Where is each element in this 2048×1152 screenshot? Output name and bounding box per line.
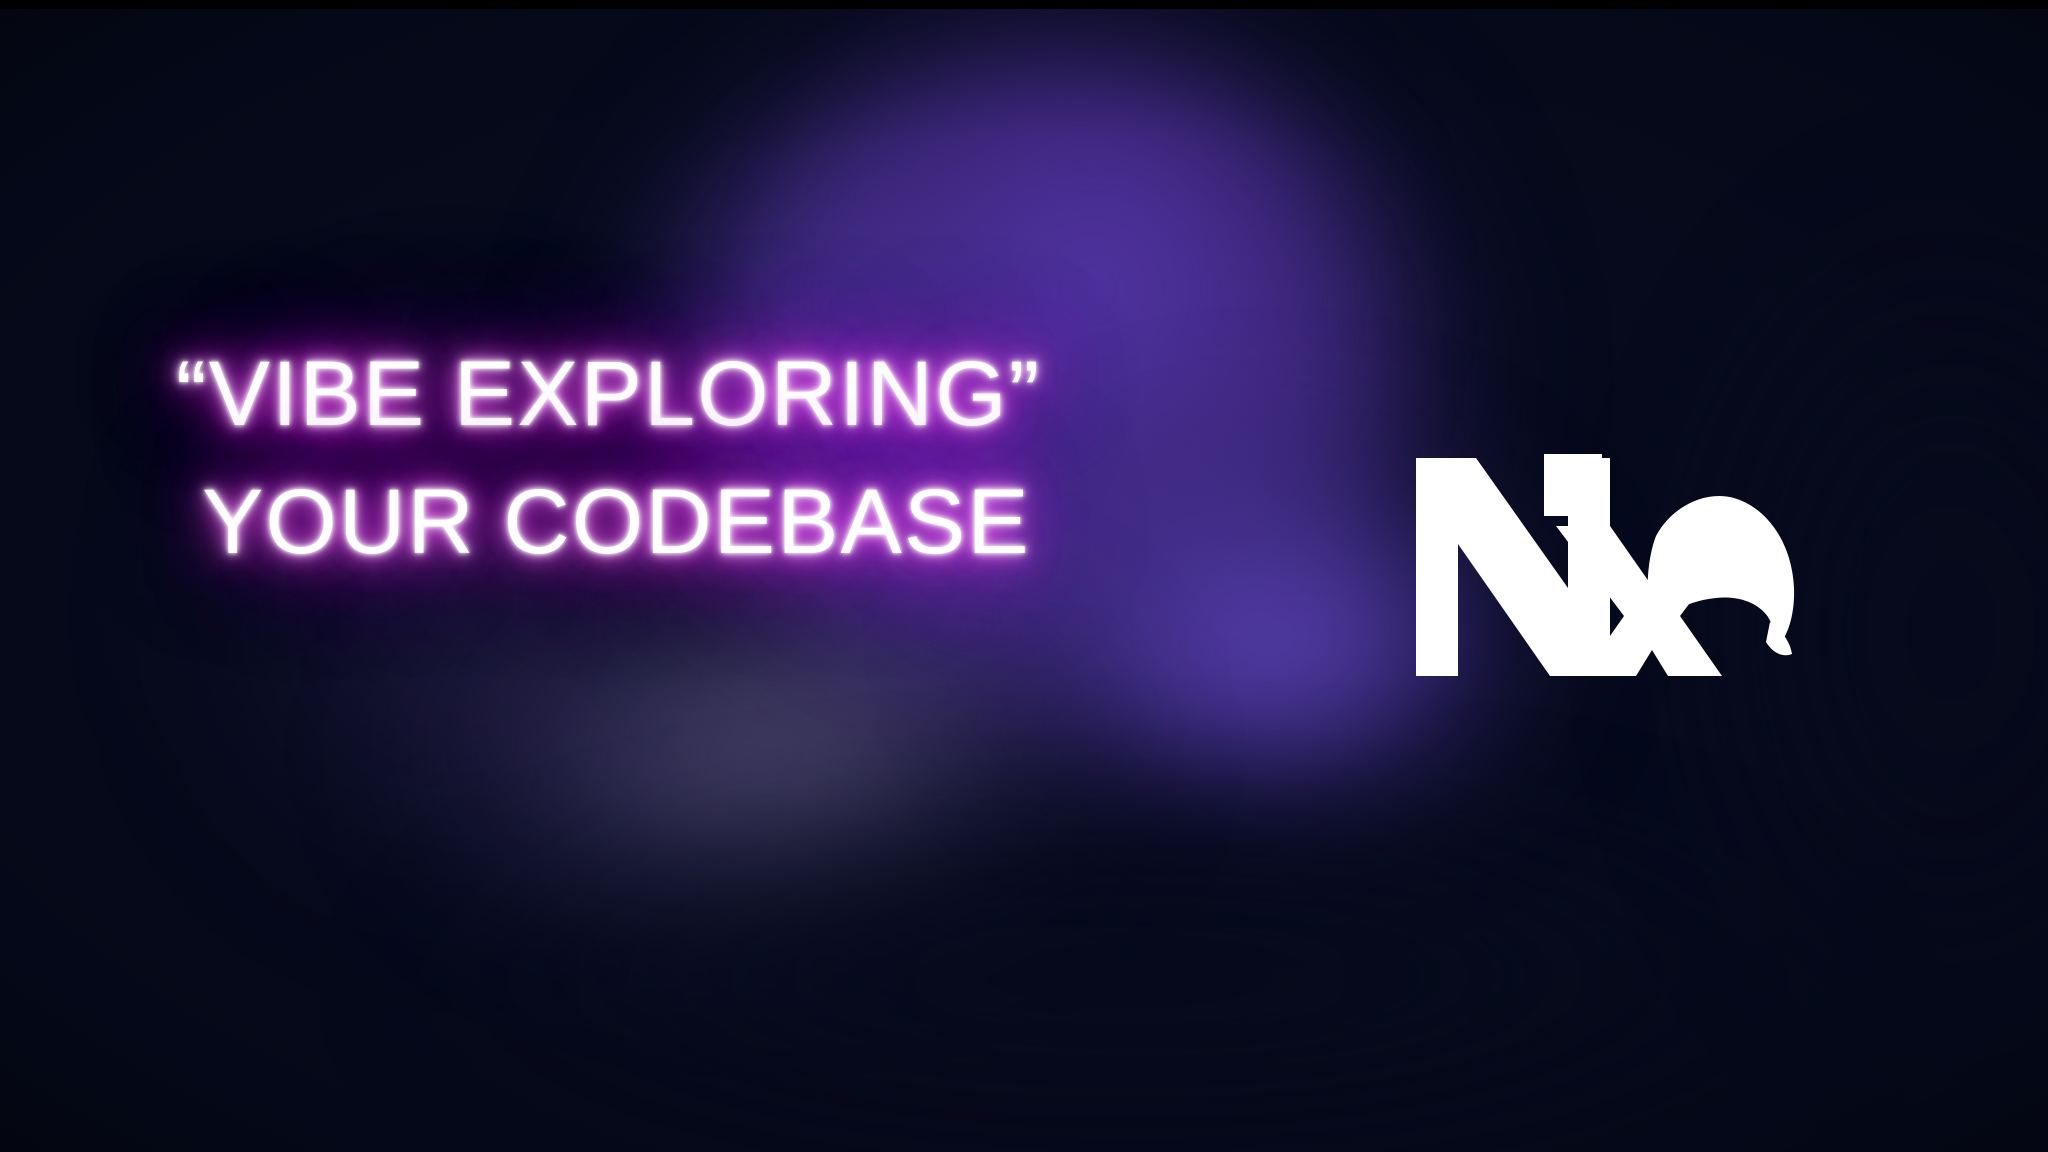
headline-line-1: “VIBE EXPLORING” (170, 330, 1050, 458)
nx-logo-dot-square (1544, 454, 1602, 516)
slide-canvas: “VIBE EXPLORING” YOUR CODEBASE (0, 0, 2048, 1152)
headline-line-2: YOUR CODEBASE (170, 458, 1050, 586)
headline: “VIBE EXPLORING” YOUR CODEBASE (170, 330, 1050, 586)
background-blob-highlight (360, 560, 1140, 980)
background-vignette-bottom (380, 790, 1880, 1152)
top-black-bar (0, 0, 2048, 9)
nx-logo (1404, 440, 1804, 690)
